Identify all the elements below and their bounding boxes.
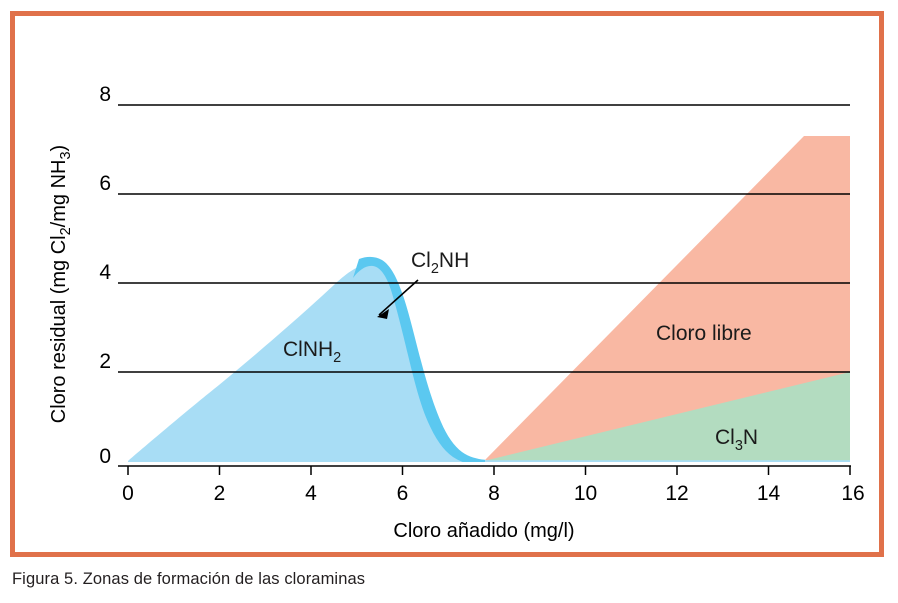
ytick-label-2: 2 (99, 350, 111, 373)
label-clnh2-sub: 2 (333, 350, 341, 366)
label-cl3n-sub: 3 (735, 438, 743, 454)
chart-regions (128, 136, 850, 466)
y-axis-title-mid: /mg NH (48, 160, 70, 228)
chloramine-zones-chart: 0 2 4 6 8 10 12 14 16 0 2 4 6 8 Cloro añ… (15, 16, 879, 552)
label-cloro-libre: Cloro libre (656, 322, 752, 345)
svg-text:Cloro residual (mg Cl2/mg NH3): Cloro residual (mg Cl2/mg NH3) (48, 145, 74, 423)
xtick-label-6: 6 (397, 482, 409, 505)
label-cl2nh: Cl2NH (411, 249, 469, 277)
xtick-label-12: 12 (665, 482, 688, 505)
label-cl2nh-sub: 2 (431, 261, 439, 277)
y-axis-title-pre: Cloro residual (mg Cl (48, 235, 70, 423)
xtick-label-8: 8 (488, 482, 500, 505)
xtick-label-0: 0 (122, 482, 134, 505)
xtick-label-4: 4 (305, 482, 317, 505)
ytick-label-0: 0 (99, 445, 111, 468)
ytick-label-8: 8 (99, 83, 111, 106)
x-axis-title: Cloro añadido (mg/l) (393, 520, 574, 542)
chart-axes (118, 466, 851, 475)
y-axis-title: Cloro residual (mg Cl2/mg NH3) (48, 145, 74, 423)
label-cl2nh-post: NH (439, 249, 469, 272)
figure-frame: 0 2 4 6 8 10 12 14 16 0 2 4 6 8 Cloro añ… (10, 11, 884, 557)
y-axis-title-post: ) (48, 145, 70, 152)
y-axis-title-sub1: 2 (58, 227, 74, 235)
xtick-label-16: 16 (841, 482, 864, 505)
ytick-label-4: 4 (99, 261, 111, 284)
figure-caption: Figura 5. Zonas de formación de las clor… (12, 570, 365, 589)
ytick-label-6: 6 (99, 172, 111, 195)
label-cl2nh-pre: Cl (411, 249, 431, 272)
label-clnh2-text: ClNH (283, 338, 333, 361)
xtick-label-2: 2 (214, 482, 226, 505)
figure-page: 0 2 4 6 8 10 12 14 16 0 2 4 6 8 Cloro añ… (0, 0, 898, 603)
x-tick-labels: 0 2 4 6 8 10 12 14 16 (122, 482, 865, 505)
label-cl3n-post: N (743, 426, 758, 449)
y-axis-title-sub2: 3 (58, 151, 74, 159)
xtick-label-10: 10 (574, 482, 597, 505)
y-tick-labels: 0 2 4 6 8 (99, 83, 111, 468)
label-cl3n-pre: Cl (715, 426, 735, 449)
xtick-label-14: 14 (757, 482, 781, 505)
